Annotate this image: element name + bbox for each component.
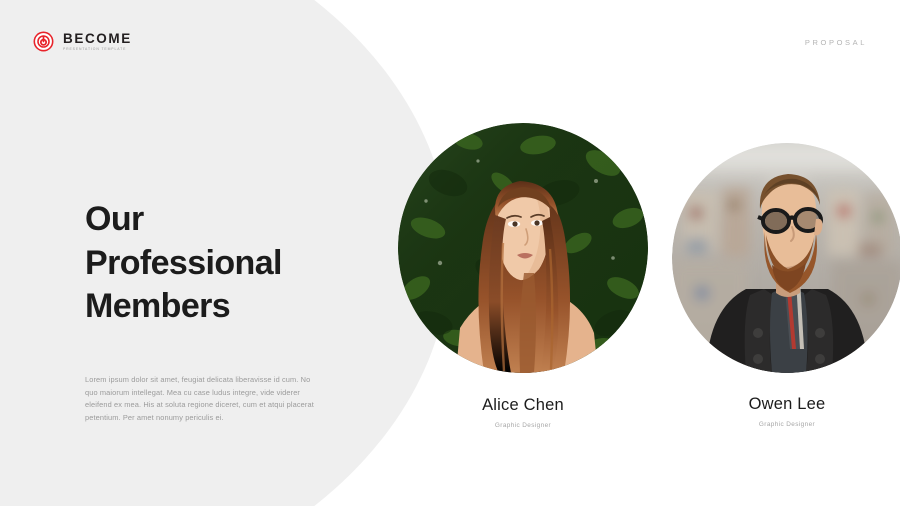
member-name: Owen Lee bbox=[672, 395, 900, 414]
member-card-alice-chen[interactable]: Alice Chen Graphic Designer bbox=[398, 123, 648, 429]
become-spiral-logo-icon bbox=[33, 31, 54, 52]
member-card-owen-lee[interactable]: Owen Lee Graphic Designer bbox=[672, 143, 900, 428]
brand-logo[interactable]: BECOME PRESENTATION TEMPLATE bbox=[33, 31, 132, 52]
member-avatar bbox=[398, 123, 648, 373]
body-paragraph: Lorem ipsum dolor sit amet, feugiat deli… bbox=[85, 374, 325, 425]
headline-line-2: Professional bbox=[85, 242, 282, 286]
member-name: Alice Chen bbox=[398, 396, 648, 415]
member-role: Graphic Designer bbox=[672, 421, 900, 428]
logo-wordmark: BECOME bbox=[63, 32, 132, 46]
member-avatar bbox=[672, 143, 900, 373]
proposal-label: PROPOSAL bbox=[805, 38, 867, 47]
slide-canvas: BECOME PRESENTATION TEMPLATE PROPOSAL Ou… bbox=[0, 0, 900, 506]
page-title: Our Professional Members bbox=[85, 198, 282, 329]
logo-tagline: PRESENTATION TEMPLATE bbox=[63, 48, 132, 51]
headline-line-1: Our bbox=[85, 198, 282, 242]
member-role: Graphic Designer bbox=[398, 422, 648, 429]
headline-line-3: Members bbox=[85, 285, 282, 329]
